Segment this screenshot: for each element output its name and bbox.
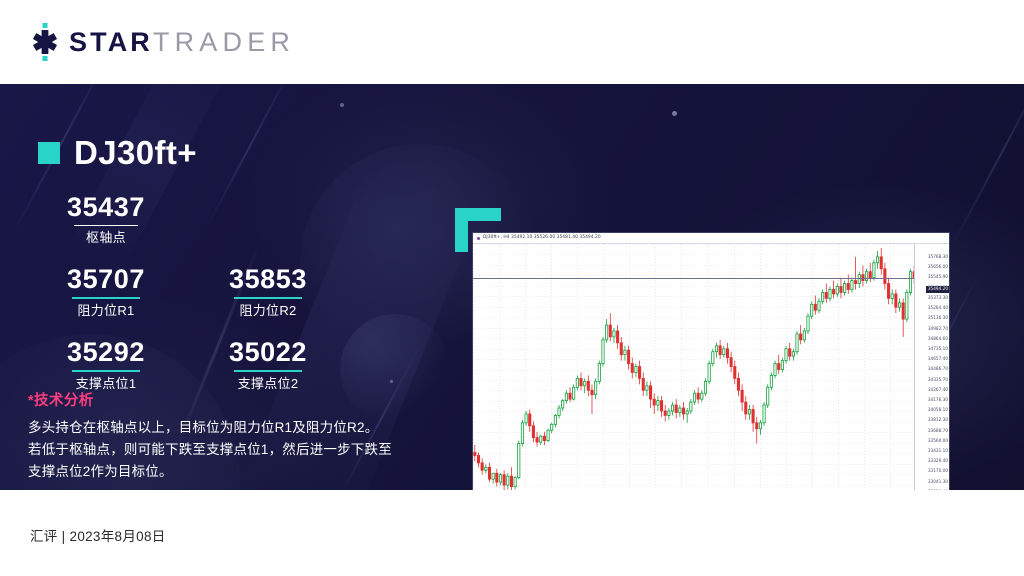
price-tick: 35136.30 [928, 316, 948, 320]
analysis-body: 多头持仓在枢轴点以上，目标位为阻力位R1及阻力位R2。 若低于枢轴点，则可能下跌… [28, 417, 428, 483]
level-label: 阻力位R1 [40, 303, 172, 319]
price-tick: 33812.30 [928, 418, 948, 422]
price-tick: 34657.40 [928, 357, 948, 361]
level-value: 35437 [40, 192, 172, 222]
analysis-line-2: 若低于枢轴点，则可能下跌至支撑点位1，然后进一步下跌至 [28, 439, 428, 461]
level-underline [72, 297, 140, 299]
price-tick: 35656.00 [928, 265, 948, 269]
price-tick: 33170.00 [928, 469, 948, 473]
price-tick: 35768.30 [928, 255, 948, 259]
pivot-levels: 35437 枢轴点 35707 阻力位R1 35853 阻力位R2 35292 … [0, 192, 440, 393]
level-label: 阻力位R2 [202, 303, 334, 319]
level-pivot: 35437 枢轴点 [40, 192, 172, 246]
level-label: 枢轴点 [40, 230, 172, 246]
level-underline [72, 370, 140, 372]
chart-plot-area [473, 244, 916, 490]
level-resistance-1: 35707 阻力位R1 [40, 264, 172, 319]
price-tick: 34058.10 [928, 408, 948, 412]
instrument-title-row: DJ30ft+ [38, 136, 197, 169]
brand-name-star: STAR [69, 27, 153, 57]
price-tick: 34735.10 [928, 347, 948, 351]
title-marker-square [38, 142, 60, 164]
level-underline [234, 297, 302, 299]
brand-name: STARTRADER [69, 29, 295, 56]
level-resistance-2: 35853 阻力位R2 [202, 264, 334, 319]
level-value: 35707 [40, 264, 172, 294]
decor-dot [340, 103, 344, 107]
price-tick: 34176.30 [928, 398, 948, 402]
price-tick: 34982.70 [928, 327, 948, 331]
page-header: STARTRADER [0, 0, 1024, 84]
footer-caption: 汇评 | 2023年8月08日 [30, 525, 166, 545]
level-value: 35022 [202, 337, 334, 367]
price-tick: 34864.60 [928, 337, 948, 341]
technical-analysis: *技术分析 多头持仓在枢轴点以上，目标位为阻力位R1及阻力位R2。 若低于枢轴点… [28, 389, 428, 483]
price-tick: 33329.40 [928, 459, 948, 463]
analysis-line-1: 多头持仓在枢轴点以上，目标位为阻力位R1及阻力位R2。 [28, 417, 428, 439]
price-tick: 34486.70 [928, 367, 948, 371]
level-support-1: 35292 支撑点位1 [40, 337, 172, 392]
asterisk-star-icon [28, 23, 62, 61]
price-tick: 35373.30 [928, 296, 948, 300]
current-price-tag: 35494.20 [926, 286, 949, 293]
page-footer: 汇评 | 2023年8月08日 [0, 490, 1024, 576]
current-price-line [473, 278, 916, 279]
brand-name-trader: TRADER [153, 27, 295, 57]
price-chart[interactable]: DJ30ft+, H4 35492.10 35526.00 35481.40 3… [472, 232, 950, 490]
price-tick: 33560.00 [928, 439, 948, 443]
chart-ohlc-label: DJ30ft+, H4 35492.10 35526.00 35481.40 3… [473, 236, 601, 240]
page-title: DJ30ft+ [74, 136, 197, 169]
price-tick: 34267.40 [928, 388, 948, 392]
price-tick: 33041.30 [928, 480, 948, 484]
brand-logo: STARTRADER [28, 23, 295, 61]
price-tick: 33431.10 [928, 449, 948, 453]
chart-ohlc-bar: DJ30ft+, H4 35492.10 35526.00 35481.40 3… [473, 233, 949, 244]
price-tick: 35545.90 [928, 275, 948, 279]
level-underline [234, 370, 302, 372]
level-value: 35853 [202, 264, 334, 294]
candlestick-series [473, 244, 916, 490]
main-panel: DJ30ft+ 35437 枢轴点 35707 阻力位R1 35853 阻力位R… [0, 84, 1024, 490]
analysis-heading: *技术分析 [28, 389, 428, 410]
decor-dot [672, 111, 677, 116]
price-tick: 33688.70 [928, 429, 948, 433]
price-tick: 35264.40 [928, 306, 948, 310]
level-support-2: 35022 支撑点位2 [202, 337, 334, 392]
price-axis[interactable]: 35768.3035656.0035545.9035494.2035373.30… [914, 244, 949, 490]
analysis-line-3: 支撑点位2作为目标位。 [28, 461, 428, 483]
decor-streak [948, 84, 1024, 252]
price-tick: 34335.70 [928, 378, 948, 382]
level-value: 35292 [40, 337, 172, 367]
level-underline [74, 225, 138, 226]
